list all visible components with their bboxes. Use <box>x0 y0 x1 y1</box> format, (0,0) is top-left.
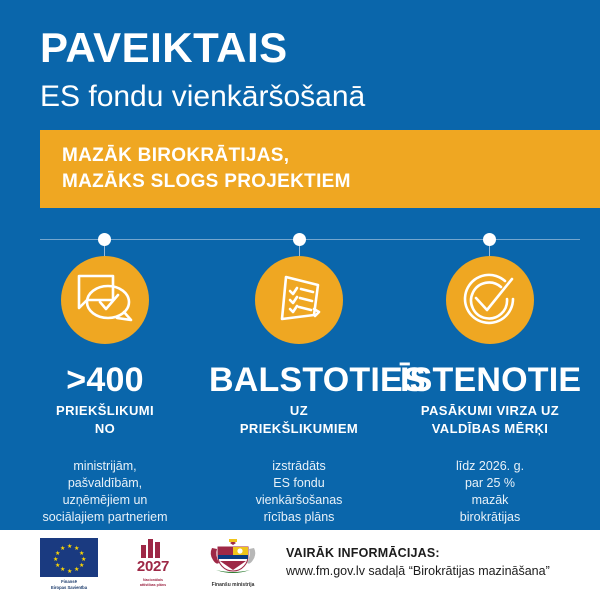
stat-body-1: ministrijām, pašvaldībām, uzņēmējiem un … <box>15 458 195 526</box>
circle-checkmark-icon <box>460 268 520 333</box>
timeline-rule <box>40 239 580 240</box>
page-subtitle: ES fondu vienkāršošanā <box>40 78 580 116</box>
stat-caption-3a: PASĀKUMI VIRZA UZ <box>400 402 580 420</box>
speech-bubbles-check-icon <box>74 270 136 331</box>
ministry-logo-block: Finanšu ministrija <box>208 538 258 589</box>
stat-caption-1a: PRIEKŠLIKUMI <box>15 402 195 420</box>
more-info-title: VAIRĀK INFORMĀCIJAS: <box>286 546 550 560</box>
stat-column-2: BALSTOTIES UZ PRIEKŠLIKUMIEM izstrādāts … <box>209 256 389 526</box>
footer: ★ ★ ★ ★ ★ ★ ★ ★ ★ ★ ★ ★ Finansē Eiropas … <box>0 530 600 600</box>
stat-body-2: izstrādāts ES fondu vienkāršošanas rīcīb… <box>209 458 389 526</box>
icon-badge-2 <box>255 256 343 344</box>
more-info-block: VAIRĀK INFORMĀCIJAS: www.fm.gov.lv sadaļ… <box>286 546 550 578</box>
node-dot-2 <box>293 233 306 246</box>
highlight-banner: MAZĀK BIROKRĀTIJAS, MAZĀKS SLOGS PROJEKT… <box>40 130 600 208</box>
header: PAVEIKTAIS ES fondu vienkāršošanā <box>40 24 580 116</box>
icon-badge-1 <box>61 256 149 344</box>
icon-badge-3 <box>446 256 534 344</box>
nap-year: 2027 <box>124 558 182 575</box>
stat-headline-1: >400 <box>15 362 195 398</box>
stat-column-1: >400 PRIEKŠLIKUMI NO ministrijām, pašval… <box>15 256 195 526</box>
node-dot-3 <box>483 233 496 246</box>
stat-caption-3b: VALDĪBAS MĒRĶI <box>400 420 580 438</box>
node-dot-1 <box>98 233 111 246</box>
more-info-url[interactable]: www.fm.gov.lv sadaļā “Birokrātijas mazin… <box>286 564 550 578</box>
banner-line-1: MAZĀK BIROKRĀTIJAS, <box>62 143 600 169</box>
stat-column-3: ĪSTENOTIE PASĀKUMI VIRZA UZ VALDĪBAS MĒR… <box>400 256 580 526</box>
nap-2027-logo: 2027 <box>124 538 182 577</box>
ministry-logo-caption: Finanšu ministrija <box>208 583 258 589</box>
stat-headline-3: ĪSTENOTIE <box>400 362 580 398</box>
eu-logo-caption: Finansē Eiropas Savienība <box>40 579 98 590</box>
stat-body-3: līdz 2026. g. par 25 % mazāk birokrātija… <box>400 458 580 526</box>
nap-bars-icon <box>141 539 160 558</box>
eu-logo-block: ★ ★ ★ ★ ★ ★ ★ ★ ★ ★ ★ ★ Finansē Eiropas … <box>40 538 98 590</box>
page-title: PAVEIKTAIS <box>40 24 580 72</box>
checklist-document-icon <box>270 269 328 332</box>
stat-headline-2: BALSTOTIES <box>209 362 389 398</box>
stat-caption-2b: PRIEKŠLIKUMIEM <box>209 420 389 438</box>
stat-caption-1b: NO <box>15 420 195 438</box>
banner-line-2: MAZĀKS SLOGS PROJEKTIEM <box>62 169 600 195</box>
stat-caption-2a: UZ <box>209 402 389 420</box>
infographic-poster: PAVEIKTAIS ES fondu vienkāršošanā MAZĀK … <box>0 0 600 600</box>
eu-flag-logo: ★ ★ ★ ★ ★ ★ ★ ★ ★ ★ ★ ★ <box>40 538 98 577</box>
latvia-coat-of-arms-logo <box>208 563 258 580</box>
logo-row: ★ ★ ★ ★ ★ ★ ★ ★ ★ ★ ★ ★ Finansē Eiropas … <box>40 538 258 590</box>
nap-logo-caption: Nacionālais attīstības plāns <box>124 578 182 587</box>
nap-logo-block: 2027 Nacionālais attīstības plāns <box>124 538 182 587</box>
